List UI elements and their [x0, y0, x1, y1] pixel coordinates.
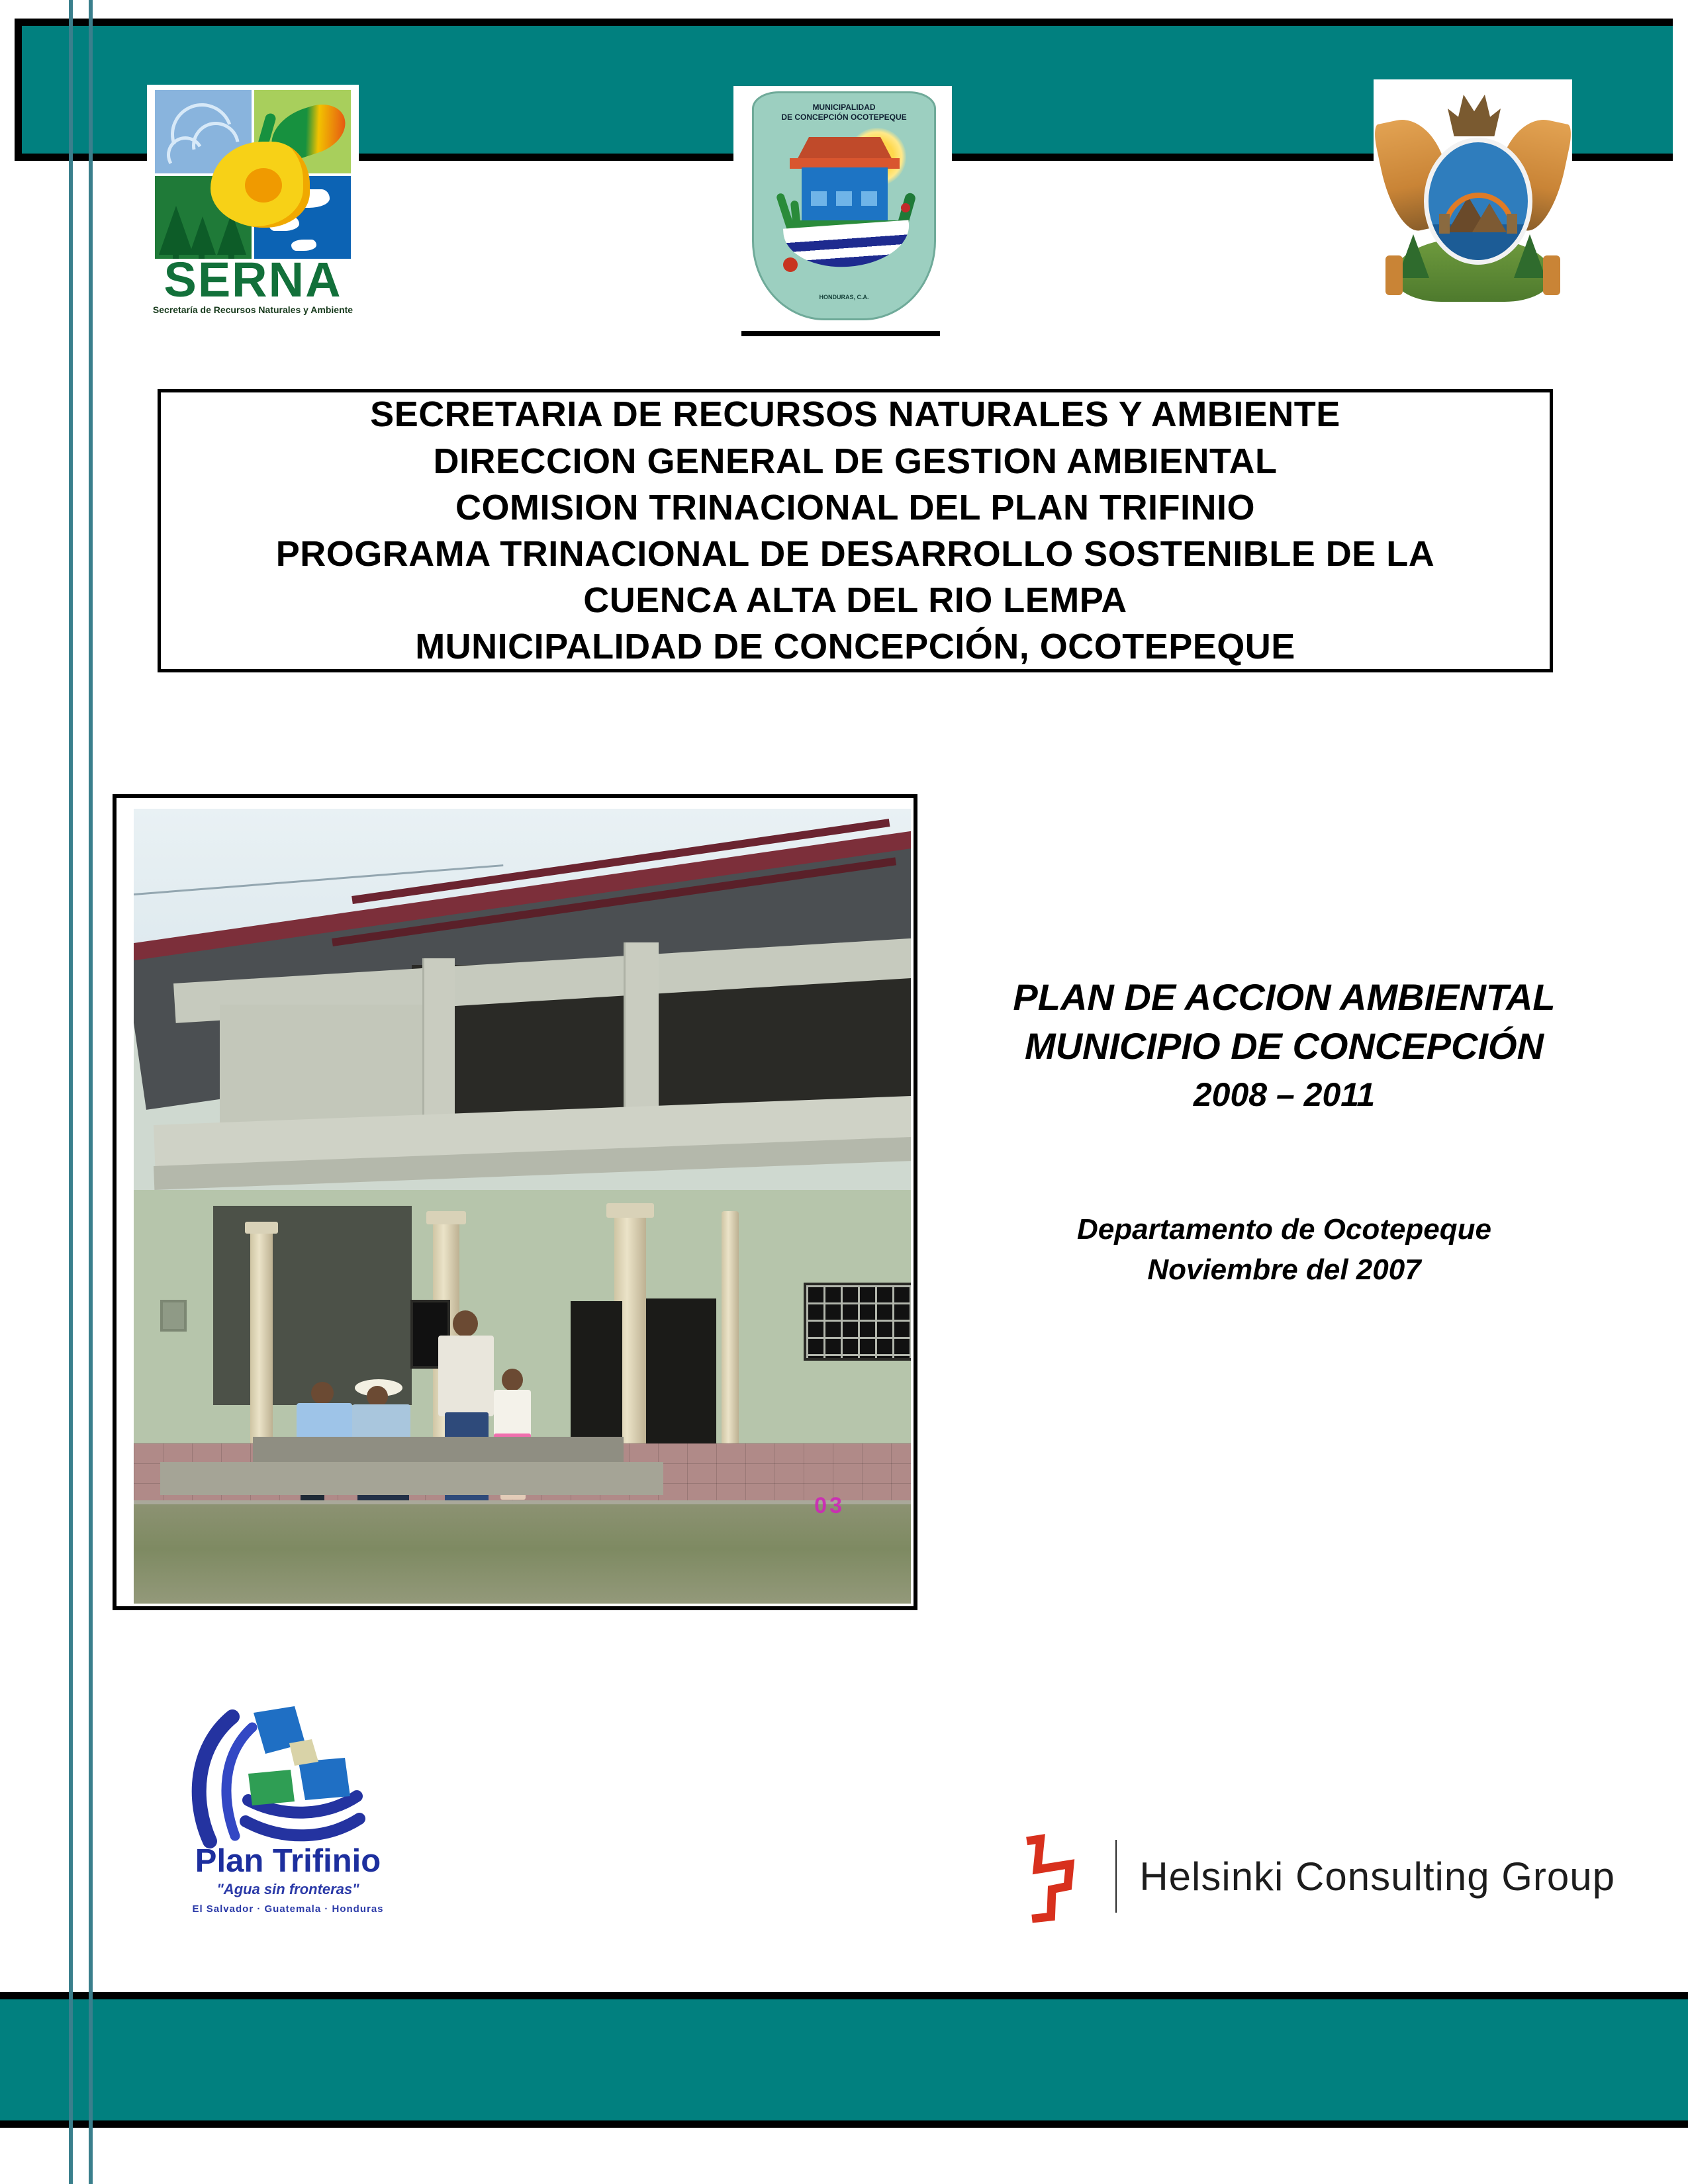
- header-line-3: COMISION TRINACIONAL DEL PLAN TRIFINIO: [276, 484, 1435, 531]
- seal-title-line1: MUNICIPALIDAD: [754, 103, 934, 113]
- serna-subtitle: Secretaría de Recursos Naturales y Ambie…: [147, 304, 359, 315]
- municipal-seal-shield-icon: MUNICIPALIDAD DE CONCEPCIÓN OCOTEPEQUE: [752, 91, 936, 320]
- plan-title-line-1: PLAN DE ACCION AMBIENTAL: [953, 973, 1615, 1022]
- bottom-teal-band: [0, 1992, 1688, 2128]
- photo-watermark: 03: [814, 1493, 845, 1519]
- seal-footer-text: HONDURAS, C.A.: [754, 294, 934, 301]
- trifinio-countries: El Salvador · Guatemala · Honduras: [169, 1903, 407, 1915]
- helsinki-consulting-group-logo: Helsinki Consulting Group: [1019, 1817, 1615, 1936]
- serna-wordmark: SERNA: [147, 255, 359, 304]
- trifinio-wordmark: Plan Trifinio: [169, 1845, 407, 1878]
- header-title-box: SECRETARIA DE RECURSOS NATURALES Y AMBIE…: [158, 389, 1553, 672]
- trifinio-globe-icon: [169, 1701, 407, 1853]
- plan-date: Noviembre del 2007: [953, 1250, 1615, 1291]
- serna-sun-core-icon: [245, 168, 282, 203]
- plan-years: 2008 – 2011: [953, 1073, 1615, 1118]
- left-vertical-rule-outer: [69, 0, 73, 2184]
- municipal-seal-logo: MUNICIPALIDAD DE CONCEPCIÓN OCOTEPEQUE: [733, 86, 952, 331]
- header-line-4: PROGRAMA TRINACIONAL DE DESARROLLO SOSTE…: [276, 531, 1435, 577]
- header-title-lines: SECRETARIA DE RECURSOS NATURALES Y AMBIE…: [250, 391, 1462, 670]
- document-cover-page: SERNA Secretaría de Recursos Naturales y…: [0, 0, 1688, 2184]
- header-line-6: MUNICIPALIDAD DE CONCEPCIÓN, OCOTEPEQUE: [276, 623, 1435, 670]
- trifinio-tagline: "Agua sin fronteras": [169, 1881, 407, 1898]
- cover-photo: 03: [134, 809, 911, 1604]
- plan-trifinio-logo: Plan Trifinio "Agua sin fronteras" El Sa…: [169, 1701, 407, 1933]
- left-vertical-rule-inner: [89, 0, 93, 2184]
- header-line-5: CUENCA ALTA DEL RIO LEMPA: [276, 577, 1435, 623]
- seal-title-line2: DE CONCEPCIÓN OCOTEPEQUE: [754, 113, 934, 122]
- cover-photo-frame: 03: [113, 794, 917, 1610]
- coat-of-arms-emblem-icon: [1424, 138, 1532, 265]
- plan-title-line-2: MUNICIPIO DE CONCEPCIÓN: [953, 1022, 1615, 1071]
- plan-department: Departamento de Ocotepeque: [953, 1210, 1615, 1250]
- logo-row: SERNA Secretaría de Recursos Naturales y…: [0, 0, 1688, 344]
- helsinki-divider: [1115, 1840, 1117, 1913]
- header-line-2: DIRECCION GENERAL DE GESTION AMBIENTAL: [276, 438, 1435, 484]
- serna-logo: SERNA Secretaría de Recursos Naturales y…: [147, 85, 359, 316]
- seal-underline-rule: [741, 331, 940, 336]
- helsinki-name: Helsinki Consulting Group: [1139, 1854, 1615, 1899]
- helsinki-mark-icon: [1019, 1823, 1098, 1929]
- honduras-coat-of-arms-logo: [1374, 79, 1572, 311]
- plan-title-block: PLAN DE ACCION AMBIENTAL MUNICIPIO DE CO…: [953, 973, 1615, 1291]
- header-line-1: SECRETARIA DE RECURSOS NATURALES Y AMBIE…: [276, 391, 1435, 437]
